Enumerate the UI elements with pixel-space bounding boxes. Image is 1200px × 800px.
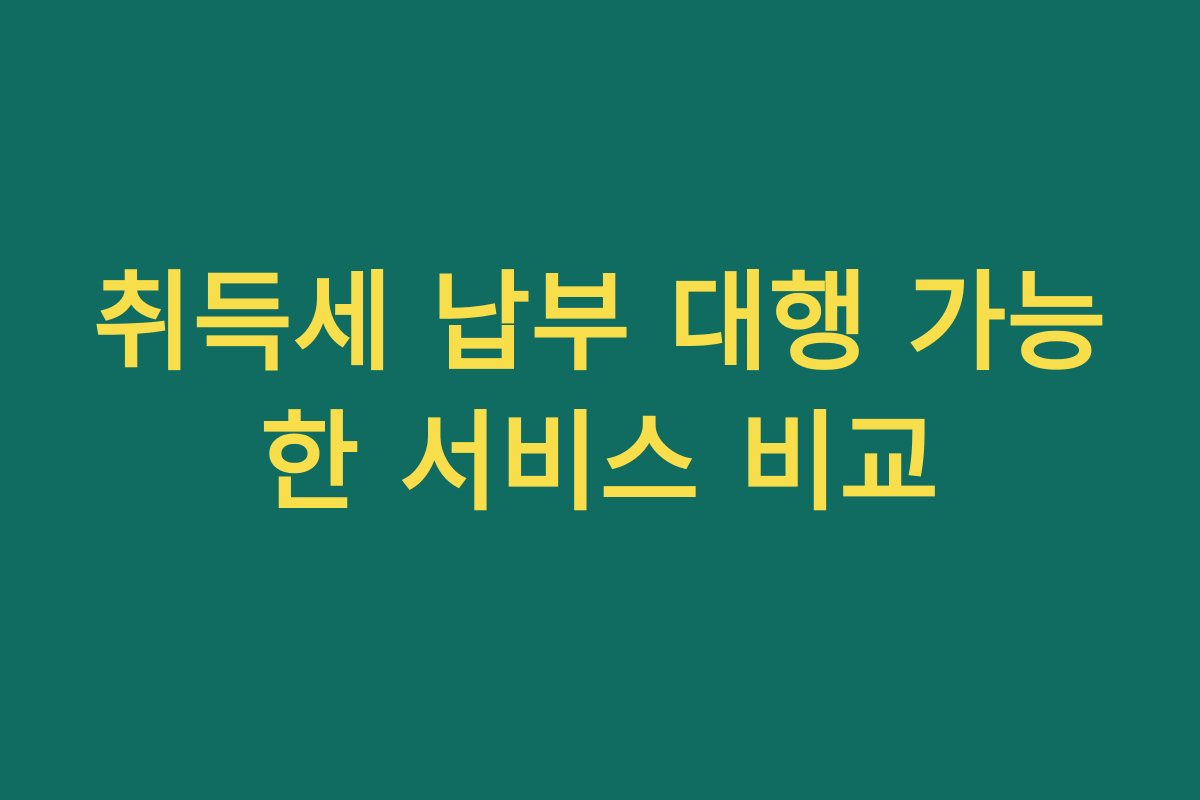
page-title-line-2: 한 서비스 비교	[260, 394, 940, 534]
page-title-line-1: 취득세 납부 대행 가능	[93, 254, 1107, 394]
title-card-banner: 취득세 납부 대행 가능 한 서비스 비교	[0, 0, 1200, 800]
page-title: 취득세 납부 대행 가능 한 서비스 비교	[100, 254, 1100, 534]
